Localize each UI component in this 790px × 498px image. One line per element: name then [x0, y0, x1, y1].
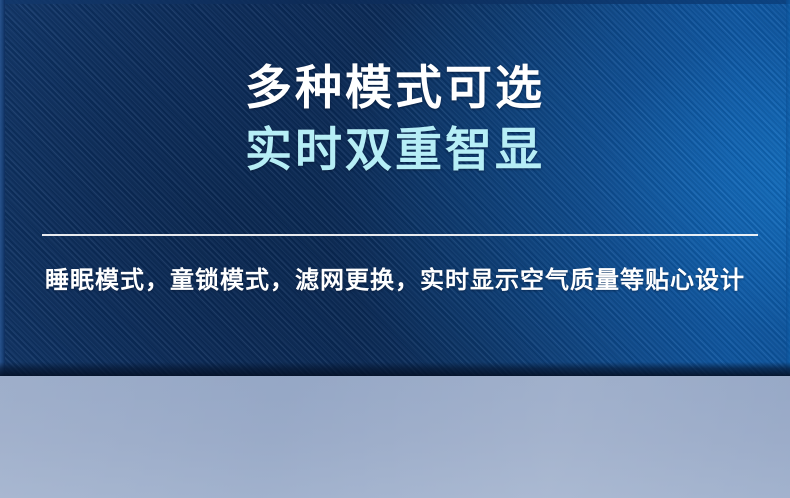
subtitle-text: 睡眠模式，童锁模式，滤网更换，实时显示空气质量等贴心设计 — [0, 263, 790, 297]
headline-line-2: 实时双重智显 — [0, 120, 790, 182]
banner-content: 多种模式可选 实时双重智显 睡眠模式，童锁模式，滤网更换，实时显示空气质量等贴心… — [0, 0, 790, 498]
headline-block: 多种模式可选 实时双重智显 — [0, 58, 790, 182]
divider-line — [42, 234, 758, 236]
banner-image: 多种模式可选 实时双重智显 睡眠模式，童锁模式，滤网更换，实时显示空气质量等贴心… — [0, 0, 790, 498]
headline-line-1: 多种模式可选 — [0, 58, 790, 120]
